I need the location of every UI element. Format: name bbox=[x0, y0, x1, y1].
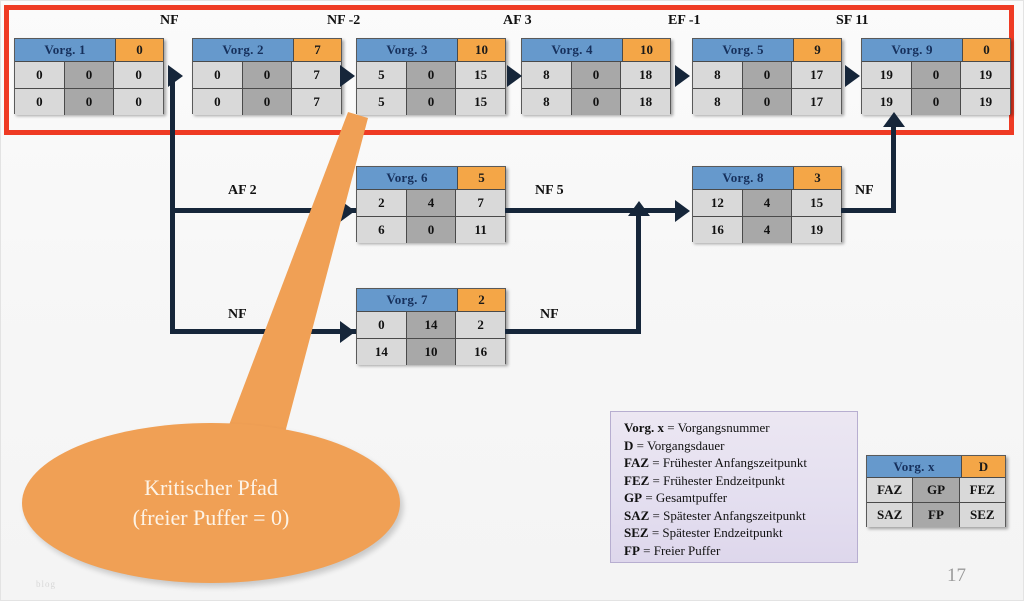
connector-v7-up bbox=[636, 214, 641, 334]
edge-label-ef-minus1: EF -1 bbox=[668, 13, 701, 29]
node-sez: 17 bbox=[792, 89, 841, 115]
edge-label-sf-11: SF 11 bbox=[836, 13, 869, 29]
legend-abbr: FP bbox=[624, 543, 640, 558]
node-vorg-2[interactable]: Vorg. 2 7 0 0 7 0 0 7 bbox=[192, 38, 342, 114]
key-node-sez: SEZ bbox=[960, 503, 1005, 527]
key-node-fez: FEZ bbox=[960, 478, 1005, 502]
edge-label-nf-5: NF 5 bbox=[535, 183, 564, 199]
node-title: Vorg. 5 bbox=[693, 39, 794, 62]
node-sez: 16 bbox=[456, 339, 505, 365]
node-duration: 3 bbox=[794, 167, 841, 190]
legend-text: Frühester Endzeitpunkt bbox=[663, 473, 785, 488]
node-duration: 2 bbox=[458, 289, 505, 312]
node-gp: 0 bbox=[65, 62, 115, 88]
node-fp: 0 bbox=[912, 89, 962, 115]
node-sez: 11 bbox=[456, 217, 505, 243]
legend-abbr: FAZ bbox=[624, 455, 649, 470]
arrow-v2-to-v3 bbox=[340, 65, 355, 87]
node-saz: 0 bbox=[15, 89, 65, 115]
connector-v8-up-to-v9 bbox=[891, 125, 896, 213]
node-fez: 7 bbox=[456, 190, 505, 216]
node-sez: 18 bbox=[621, 89, 670, 115]
node-duration: 0 bbox=[963, 39, 1010, 62]
legend-row: FP = Freier Puffer bbox=[624, 542, 857, 560]
arrow-v4-to-v5 bbox=[675, 65, 690, 87]
legend-abbr: SEZ bbox=[624, 525, 649, 540]
legend-row: SEZ = Spätester Endzeitpunkt bbox=[624, 524, 857, 542]
legend-sep: = bbox=[649, 525, 663, 540]
node-gp: 0 bbox=[572, 62, 622, 88]
legend-text: Vorgangsdauer bbox=[647, 438, 725, 453]
node-vorg-7[interactable]: Vorg. 7 2 0 14 2 14 10 16 bbox=[356, 288, 506, 364]
legend-sep: = bbox=[649, 508, 663, 523]
arrow-branch-to-v7 bbox=[340, 321, 355, 343]
node-gp: 0 bbox=[243, 62, 293, 88]
node-fp: 0 bbox=[407, 89, 457, 115]
legend-text: Vorgangsnummer bbox=[678, 420, 770, 435]
legend-row: GP = Gesamtpuffer bbox=[624, 489, 857, 507]
legend-row: FEZ = Frühester Endzeitpunkt bbox=[624, 472, 857, 490]
node-faz: 19 bbox=[862, 62, 912, 88]
node-faz: 5 bbox=[357, 62, 407, 88]
legend-key-node: Vorg. x D FAZ GP FEZ SAZ FP SEZ bbox=[866, 455, 1006, 527]
legend-abbr: D bbox=[624, 438, 633, 453]
node-fp: 4 bbox=[743, 217, 793, 243]
legend-row: Vorg. x = Vorgangsnummer bbox=[624, 419, 857, 437]
arrow-v7-merge-up bbox=[628, 201, 650, 216]
node-faz: 0 bbox=[193, 62, 243, 88]
node-fez: 19 bbox=[961, 62, 1010, 88]
node-faz: 12 bbox=[693, 190, 743, 216]
node-saz: 8 bbox=[522, 89, 572, 115]
node-vorg-5[interactable]: Vorg. 5 9 8 0 17 8 0 17 bbox=[692, 38, 842, 114]
edge-label-nf-minus2: NF -2 bbox=[327, 13, 360, 29]
legend-text: Freier Puffer bbox=[654, 543, 721, 558]
key-node-gp: GP bbox=[913, 478, 959, 502]
node-fp: 0 bbox=[743, 89, 793, 115]
node-vorg-3[interactable]: Vorg. 3 10 5 0 15 5 0 15 bbox=[356, 38, 506, 114]
arrow-branch-to-v6 bbox=[340, 200, 355, 222]
node-faz: 0 bbox=[357, 312, 407, 338]
node-title: Vorg. 2 bbox=[193, 39, 294, 62]
node-saz: 8 bbox=[693, 89, 743, 115]
node-faz: 0 bbox=[15, 62, 65, 88]
legend-abbr: SAZ bbox=[624, 508, 649, 523]
node-duration: 9 bbox=[794, 39, 841, 62]
node-faz: 2 bbox=[357, 190, 407, 216]
node-faz: 8 bbox=[693, 62, 743, 88]
legend-key-node-wrapper: Vorg. x D FAZ GP FEZ SAZ FP SEZ bbox=[866, 455, 1006, 527]
slide-canvas: NF NF -2 AF 3 EF -1 SF 11 Vorg. 1 0 0 0 … bbox=[0, 0, 1024, 601]
node-fez: 18 bbox=[621, 62, 670, 88]
critical-path-callout: Kritischer Pfad (freier Puffer = 0) bbox=[22, 423, 400, 583]
arrow-v6-to-v8 bbox=[675, 200, 690, 222]
key-node-saz: SAZ bbox=[867, 503, 913, 527]
legend-sep: = bbox=[640, 543, 654, 558]
legend-text: Spätester Anfangszeitpunkt bbox=[663, 508, 806, 523]
node-title: Vorg. 9 bbox=[862, 39, 963, 62]
legend-sep: = bbox=[649, 455, 663, 470]
node-fez: 17 bbox=[792, 62, 841, 88]
node-vorg-8[interactable]: Vorg. 8 3 12 4 15 16 4 19 bbox=[692, 166, 842, 242]
node-title: Vorg. 6 bbox=[357, 167, 458, 190]
node-sez: 0 bbox=[114, 89, 163, 115]
legend-sep: = bbox=[633, 438, 647, 453]
node-saz: 6 bbox=[357, 217, 407, 243]
edge-label-af-2: AF 2 bbox=[228, 183, 257, 199]
connector-branch-to-v6 bbox=[170, 208, 360, 213]
node-title: Vorg. 1 bbox=[15, 39, 116, 62]
node-gp: 0 bbox=[407, 62, 457, 88]
node-gp: 4 bbox=[407, 190, 457, 216]
node-vorg-1[interactable]: Vorg. 1 0 0 0 0 0 0 0 bbox=[14, 38, 164, 114]
node-title: Vorg. 7 bbox=[357, 289, 458, 312]
node-saz: 14 bbox=[357, 339, 407, 365]
node-fez: 2 bbox=[456, 312, 505, 338]
callout-line-2: (freier Puffer = 0) bbox=[133, 503, 290, 533]
node-duration: 7 bbox=[294, 39, 341, 62]
key-node-faz: FAZ bbox=[867, 478, 913, 502]
arrow-v3-to-v4 bbox=[507, 65, 522, 87]
node-sez: 19 bbox=[961, 89, 1010, 115]
node-vorg-9[interactable]: Vorg. 9 0 19 0 19 19 0 19 bbox=[861, 38, 1011, 114]
connector-v6-to-v8 bbox=[505, 208, 683, 213]
legend-sep: = bbox=[664, 420, 678, 435]
connector-v8-right bbox=[841, 208, 896, 213]
node-gp: 4 bbox=[743, 190, 793, 216]
callout-line-1: Kritischer Pfad bbox=[144, 473, 278, 503]
node-duration: 5 bbox=[458, 167, 505, 190]
node-fp: 10 bbox=[407, 339, 457, 365]
edge-label-af-3: AF 3 bbox=[503, 13, 532, 29]
legend-abbr: GP bbox=[624, 490, 642, 505]
legend-text: Frühester Anfangszeitpunkt bbox=[663, 455, 807, 470]
legend-sep: = bbox=[649, 473, 663, 488]
legend-row: FAZ = Frühester Anfangszeitpunkt bbox=[624, 454, 857, 472]
arrow-v8-to-v9 bbox=[883, 112, 905, 127]
edge-label-nf-v8-v9: NF bbox=[855, 183, 874, 199]
key-node-duration: D bbox=[962, 456, 1005, 478]
legend-sep: = bbox=[642, 490, 656, 505]
node-duration: 10 bbox=[458, 39, 505, 62]
key-node-fp: FP bbox=[913, 503, 959, 527]
node-duration: 0 bbox=[116, 39, 163, 62]
node-saz: 16 bbox=[693, 217, 743, 243]
node-fp: 0 bbox=[243, 89, 293, 115]
node-fp: 0 bbox=[407, 217, 457, 243]
node-vorg-6[interactable]: Vorg. 6 5 2 4 7 6 0 11 bbox=[356, 166, 506, 242]
node-title: Vorg. 8 bbox=[693, 167, 794, 190]
node-saz: 5 bbox=[357, 89, 407, 115]
node-duration: 10 bbox=[623, 39, 670, 62]
legend-row: D = Vorgangsdauer bbox=[624, 437, 857, 455]
connector-v7-right bbox=[505, 329, 641, 334]
arrow-v5-to-v9 bbox=[845, 65, 860, 87]
node-fp: 0 bbox=[65, 89, 115, 115]
node-gp: 14 bbox=[407, 312, 457, 338]
edge-label-nf-1: NF bbox=[160, 13, 179, 29]
node-faz: 8 bbox=[522, 62, 572, 88]
legend-box: Vorg. x = Vorgangsnummer D = Vorgangsdau… bbox=[610, 411, 858, 563]
node-fez: 0 bbox=[114, 62, 163, 88]
legend-abbr: Vorg. x bbox=[624, 420, 664, 435]
node-saz: 0 bbox=[193, 89, 243, 115]
legend-text: Spätester Endzeitpunkt bbox=[662, 525, 782, 540]
watermark-text: blog bbox=[36, 579, 56, 589]
node-title: Vorg. 4 bbox=[522, 39, 623, 62]
node-fez: 7 bbox=[292, 62, 341, 88]
node-gp: 0 bbox=[912, 62, 962, 88]
key-node-title: Vorg. x bbox=[867, 456, 962, 478]
connector-vertical-branch-trunk bbox=[170, 72, 175, 334]
node-sez: 7 bbox=[292, 89, 341, 115]
edge-label-nf-lower-branch: NF bbox=[228, 307, 247, 323]
legend-row: SAZ = Spätester Anfangszeitpunkt bbox=[624, 507, 857, 525]
node-fez: 15 bbox=[792, 190, 841, 216]
node-title: Vorg. 3 bbox=[357, 39, 458, 62]
connector-branch-to-v7 bbox=[170, 329, 360, 334]
node-sez: 19 bbox=[792, 217, 841, 243]
node-fp: 0 bbox=[572, 89, 622, 115]
page-number: 17 bbox=[947, 565, 966, 587]
node-fez: 15 bbox=[456, 62, 505, 88]
legend-abbr: FEZ bbox=[624, 473, 649, 488]
edge-label-nf-lower-to-v8: NF bbox=[540, 307, 559, 323]
node-vorg-4[interactable]: Vorg. 4 10 8 0 18 8 0 18 bbox=[521, 38, 671, 114]
legend-text: Gesamtpuffer bbox=[656, 490, 727, 505]
node-sez: 15 bbox=[456, 89, 505, 115]
node-gp: 0 bbox=[743, 62, 793, 88]
